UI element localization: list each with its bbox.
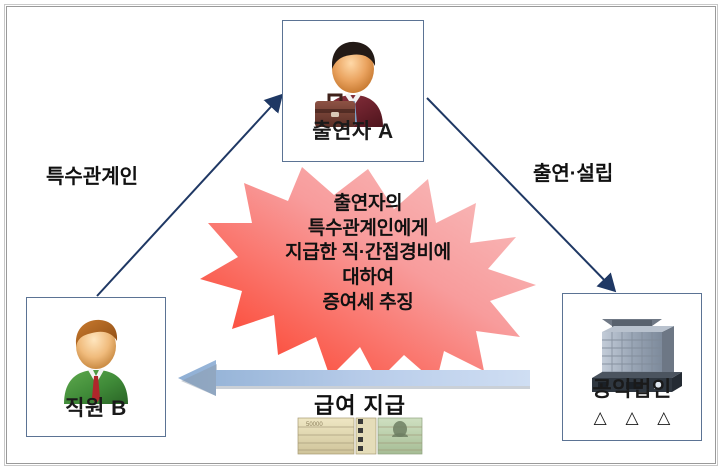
edge-label-endowment: 출연·설립 bbox=[533, 157, 613, 186]
callout-line-1: 출연자의 bbox=[198, 192, 538, 217]
callout-line-3: 지급한 직·간접경비에 bbox=[198, 241, 538, 266]
node-donor[interactable]: 출연자 A bbox=[282, 20, 424, 162]
node-worker[interactable]: 직원 B bbox=[26, 297, 166, 437]
callout-line-2: 특수관계인에게 bbox=[198, 217, 538, 242]
diagram-canvas: 출연자의 특수관계인에게 지급한 직·간접경비에 대하여 증여세 추징 bbox=[0, 0, 724, 472]
node-corporation-sublabel: △ △ △ bbox=[563, 408, 701, 428]
node-donor-label: 출연자 A bbox=[283, 115, 423, 145]
node-corporation-label: 공익법인 bbox=[563, 373, 701, 403]
callout-line-4: 대하여 bbox=[198, 266, 538, 291]
edge-label-special-relation: 특수관계인 bbox=[46, 160, 138, 189]
callout-text: 출연자의 특수관계인에게 지급한 직·간접경비에 대하여 증여세 추징 bbox=[198, 192, 538, 315]
node-corporation[interactable]: 공익법인 △ △ △ bbox=[562, 293, 702, 441]
node-worker-label: 직원 B bbox=[27, 392, 165, 422]
svg-text:50000: 50000 bbox=[306, 422, 323, 428]
money-bundle-icon: 50000 bbox=[292, 414, 428, 462]
callout-line-5: 증여세 추징 bbox=[198, 291, 538, 316]
